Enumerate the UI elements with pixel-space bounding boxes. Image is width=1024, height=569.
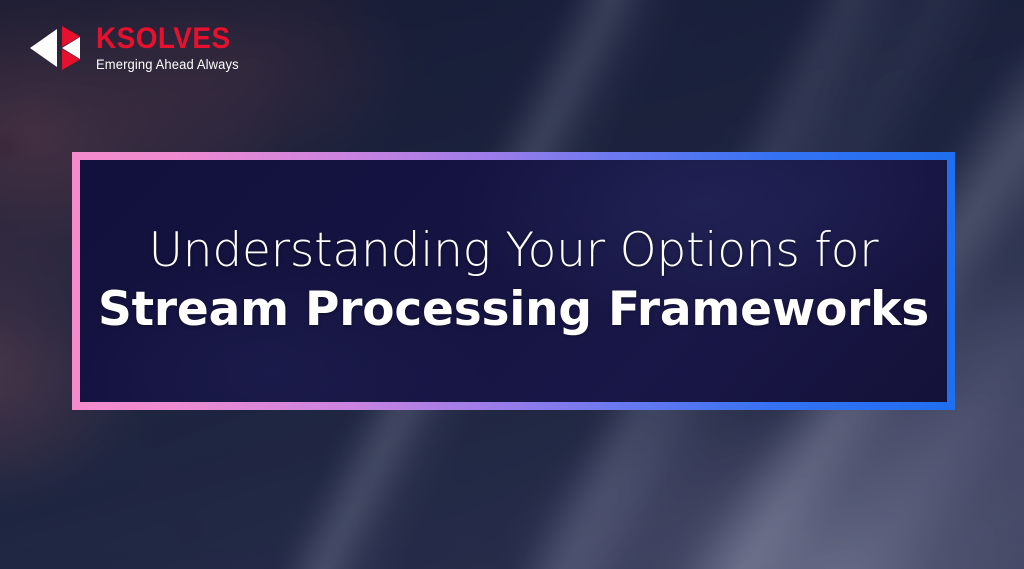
headline-card: Understanding Your Options for Stream Pr… bbox=[72, 152, 955, 410]
headline-line-2: Stream Processing Frameworks bbox=[98, 284, 929, 337]
blog-hero-banner: KSOLVES Emerging Ahead Always Understand… bbox=[0, 0, 1024, 569]
logo-tagline: Emerging Ahead Always bbox=[96, 58, 239, 72]
logo-wordmark: KSOLVES Emerging Ahead Always bbox=[96, 24, 245, 72]
headline-card-inner: Understanding Your Options for Stream Pr… bbox=[80, 160, 947, 402]
logo-brand-name: KSOLVES bbox=[96, 24, 234, 54]
headline-line-1: Understanding Your Options for bbox=[149, 225, 879, 278]
ksolves-logo[interactable]: KSOLVES Emerging Ahead Always bbox=[28, 24, 245, 72]
ksolves-k-triangles-icon bbox=[28, 25, 86, 71]
